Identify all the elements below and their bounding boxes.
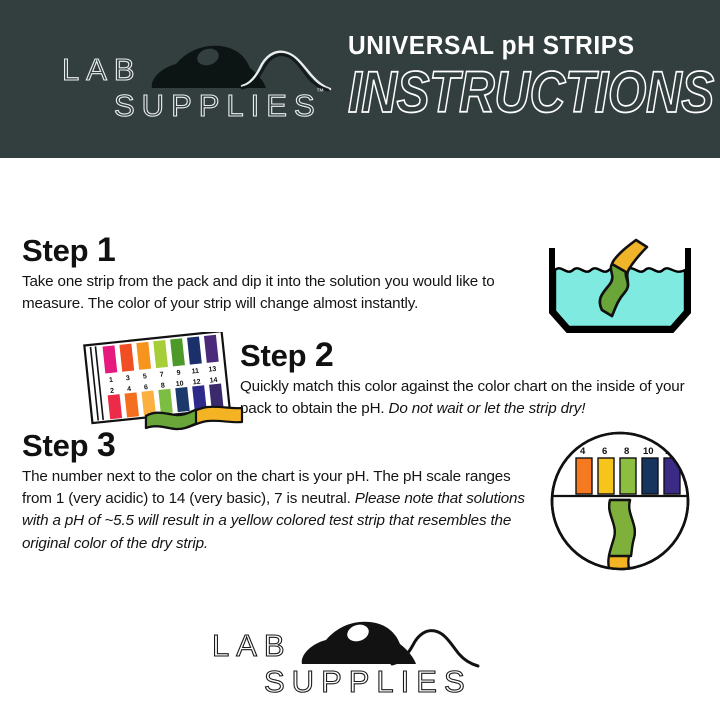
svg-text:13: 13 bbox=[208, 366, 217, 374]
svg-text:14: 14 bbox=[209, 377, 218, 385]
step-2-number: 2 bbox=[315, 336, 334, 374]
beaker-with-strip bbox=[546, 234, 694, 338]
svg-text:4: 4 bbox=[580, 446, 586, 457]
svg-text:10: 10 bbox=[176, 380, 185, 388]
step-3-body: The number next to the color on the char… bbox=[22, 466, 542, 555]
svg-text:8: 8 bbox=[624, 446, 629, 457]
svg-text:12: 12 bbox=[192, 379, 201, 387]
brand-logo-line2: SUPPLIES bbox=[114, 90, 322, 121]
step-3-block: Step 3 The number next to the color on t… bbox=[22, 428, 542, 555]
header-title-block: UNIVERSAL pH STRIPS INSTRUCTIONS bbox=[348, 34, 688, 144]
brand-logo-line1: LAB bbox=[62, 54, 142, 85]
header-instructions-title: INSTRUCTIONS bbox=[348, 63, 654, 121]
step-2-title: Step 2 bbox=[240, 338, 702, 372]
footer-logo-line2: SUPPLIES bbox=[264, 666, 472, 697]
step-1-body: Take one strip from the pack and dip it … bbox=[22, 271, 532, 315]
step-3-number: 3 bbox=[97, 426, 116, 464]
svg-text:11: 11 bbox=[191, 368, 199, 376]
svg-text:6: 6 bbox=[602, 446, 607, 457]
step-2-block: Step 2 Quickly match this color against … bbox=[240, 338, 702, 420]
magnifier-color-match: 4 6 8 10 12 bbox=[544, 428, 696, 574]
step-2-body: Quickly match this color against the col… bbox=[240, 376, 702, 420]
step-3-title-word: Step bbox=[22, 428, 88, 463]
brand-trademark: ™ bbox=[316, 88, 324, 96]
step-1-title: Step 1 bbox=[22, 233, 532, 267]
step-1-block: Step 1 Take one strip from the pack and … bbox=[22, 233, 532, 315]
rat-silhouette-icon bbox=[146, 40, 346, 94]
rat-silhouette-icon bbox=[296, 616, 496, 670]
step-3-title: Step 3 bbox=[22, 428, 542, 462]
svg-text:10: 10 bbox=[643, 446, 654, 457]
header-subtitle: UNIVERSAL pH STRIPS bbox=[348, 34, 674, 60]
header-brand-logo: LAB SUPPLIES ™ bbox=[62, 36, 352, 136]
step-1-title-word: Step bbox=[22, 233, 88, 268]
step-1-number: 1 bbox=[97, 231, 116, 269]
step-2-body-italic: Do not wait or let the strip dry! bbox=[389, 400, 586, 417]
step-2-title-word: Step bbox=[240, 338, 306, 373]
step-1-body-plain: Take one strip from the pack and dip it … bbox=[22, 273, 495, 312]
footer-brand-logo: LAB SUPPLIES bbox=[212, 612, 512, 708]
footer-logo-line1: LAB bbox=[212, 630, 292, 661]
